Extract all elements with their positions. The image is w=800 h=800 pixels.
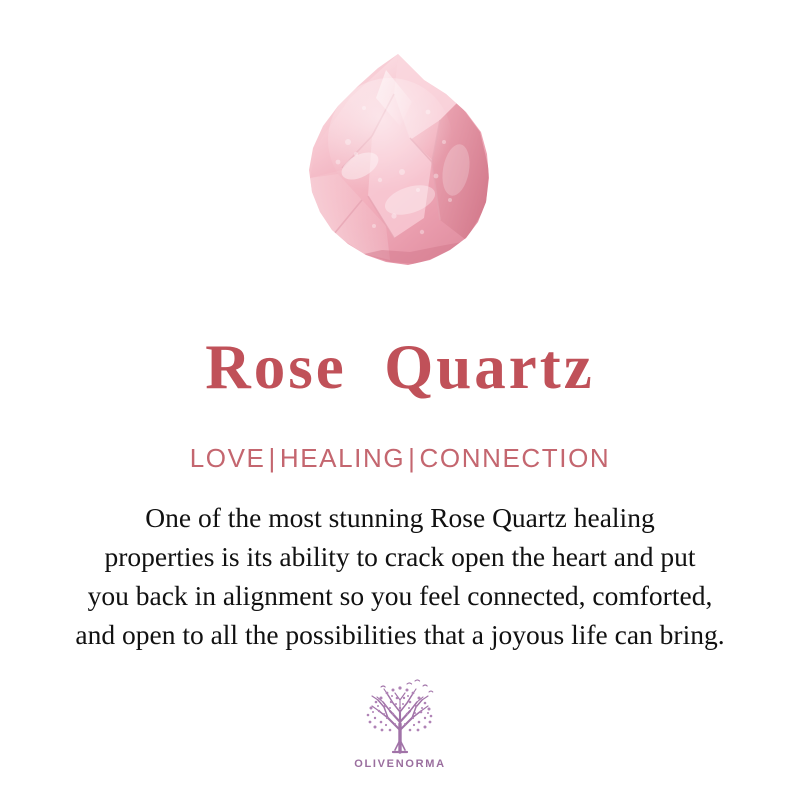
tree-of-life-icon xyxy=(357,678,443,756)
brand-wordmark: OLIVENORMA xyxy=(0,758,800,770)
description-line-1: One of the most stunning Rose Quartz hea… xyxy=(24,498,776,537)
keyword-line: LOVE|HEALING|CONNECTION xyxy=(0,444,800,474)
brand-logo: OLIVENORMA xyxy=(0,678,800,770)
description-line-3: you back in alignment so you feel connec… xyxy=(24,576,776,615)
rose-quartz-crystal-image xyxy=(290,50,510,280)
description-line-2: properties is its ability to crack open … xyxy=(24,537,776,576)
keyword-separator-2: | xyxy=(405,443,419,473)
description-paragraph: One of the most stunning Rose Quartz hea… xyxy=(24,498,776,654)
description-line-4: and open to all the possibilities that a… xyxy=(24,615,776,654)
keyword-connection: CONNECTION xyxy=(420,443,611,473)
keyword-love: LOVE xyxy=(190,443,266,473)
rose-quartz-info-card: Rose Quartz LOVE|HEALING|CONNECTION One … xyxy=(0,0,800,800)
keyword-separator-1: | xyxy=(265,443,279,473)
page-title: Rose Quartz xyxy=(0,336,800,399)
keyword-healing: HEALING xyxy=(280,443,405,473)
hero-image-container xyxy=(0,50,800,290)
